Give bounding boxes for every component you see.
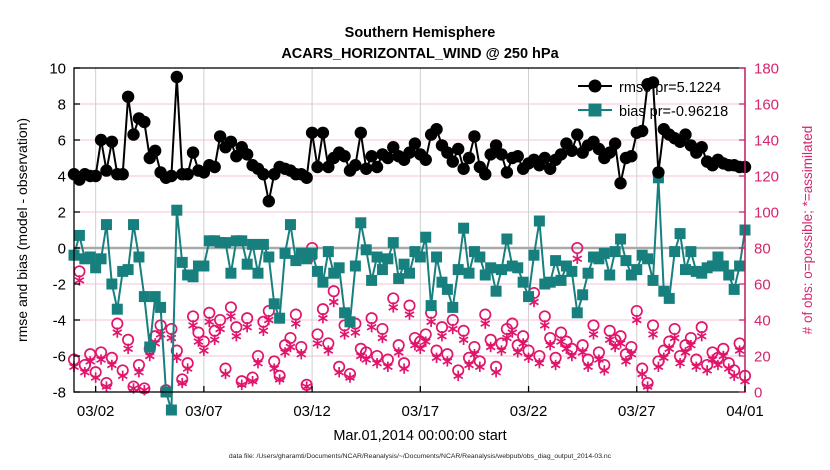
right-tick-label: 120 [754,169,779,186]
right-tick-label: 40 [754,313,771,330]
rmse-data-point [95,134,107,146]
bias-data-point [566,266,577,277]
plot-title-line1: Southern Hemisphere [345,25,496,41]
rmse-data-point [106,136,118,148]
rmse-data-point [181,168,193,180]
bias-data-point [350,261,361,272]
bias-data-point [242,259,253,270]
bias-data-point [247,239,258,250]
bias-data-point [431,252,442,263]
left-tick-label: 6 [58,133,66,150]
bias-data-point [280,248,291,259]
right-axis-label: # of obs: o=possible; *=assimilated [800,126,815,335]
rmse-data-point [512,150,524,162]
x-tick-label: 03/07 [185,403,223,420]
bias-data-point [556,275,567,286]
bias-data-point [123,264,134,275]
left-tick-label: 8 [58,97,66,114]
bias-data-point [528,250,539,261]
rmse-data-point [566,145,578,157]
bias-data-point [723,270,734,281]
rmse-data-point [495,148,507,160]
bias-data-point [144,342,155,353]
rmse-data-point [539,152,551,164]
bias-data-point [518,277,529,288]
bias-data-point [377,264,388,275]
rmse-data-point [452,143,464,155]
left-tick-label: 10 [49,61,66,78]
bias-data-point [577,289,588,300]
rmse-data-point [263,195,275,207]
bias-data-point [675,228,686,239]
bias-data-point [664,293,675,304]
rmse-data-point [241,148,253,160]
bias-data-point [344,316,355,327]
rmse-data-point [501,166,513,178]
bias-data-point [258,239,269,250]
bias-data-point [177,257,188,268]
bias-data-point [307,248,318,259]
rmse-data-point [696,141,708,153]
bias-data-point [128,219,139,230]
bias-data-point [139,291,150,302]
bias-data-point [442,284,453,295]
rmse-data-point [187,146,199,158]
bias-data-point [491,286,502,297]
x-tick-label: 03/02 [77,403,115,420]
rmse-data-point [311,161,323,173]
figure-background [0,0,830,470]
bias-data-point [604,270,615,281]
bias-data-point [464,268,475,279]
bias-data-point [669,246,680,257]
bias-data-point [572,307,583,318]
rmse-data-point [171,71,183,83]
bias-data-point [269,298,280,309]
plot-title-line2: ACARS_HORIZONTAL_WIND @ 250 hPa [281,46,559,62]
rmse-data-point [149,145,161,157]
rmse-data-point [306,127,318,139]
x-tick-label: 04/01 [726,403,764,420]
bias-data-point [323,246,334,257]
rmse-data-point [555,148,567,160]
rmse-data-point [371,161,383,173]
rmse-data-point [349,159,361,171]
rmse-data-point [317,127,329,139]
bias-data-point [74,230,85,241]
rmse-data-point [89,170,101,182]
bias-data-point [734,261,745,272]
bias-data-point [523,291,534,302]
left-tick-label: 2 [58,205,66,222]
bias-data-point [155,302,166,313]
x-tick-label: 03/17 [402,403,440,420]
rmse-data-point [365,150,377,162]
rmse-data-point [652,166,664,178]
rmse-data-point [420,154,432,166]
bias-data-point [274,313,285,324]
bias-data-point [512,262,523,273]
rmse-data-point [355,127,367,139]
rmse-data-point [679,128,691,140]
data-file-footer: data file: /Users/gharamti/Documents/NCA… [229,453,612,460]
bias-data-point [96,253,107,264]
legend-rmse-marker [589,80,602,93]
rmse-data-point [447,155,459,167]
rmse-data-point [360,163,372,175]
bias-data-point [188,271,199,282]
bias-data-point [485,262,496,273]
rmse-data-point [614,177,626,189]
rmse-data-point [382,152,394,164]
bias-data-point [263,252,274,263]
rmse-data-point [122,91,134,103]
rmse-data-point [479,168,491,180]
bias-data-point [447,302,458,313]
bias-data-point [361,244,372,255]
rmse-data-point [257,168,269,180]
left-axis-label: rmse and bias (model - observation) [14,118,30,342]
bias-data-point [404,268,415,279]
right-tick-label: 180 [754,61,779,78]
rmse-data-point [300,172,312,184]
right-tick-label: 80 [754,241,771,258]
rmse-data-point [468,130,480,142]
rmse-data-point [117,168,129,180]
bias-data-point [615,234,626,245]
bias-data-point [334,262,345,273]
observation-diagnostic-plot: Southern Hemisphere ACARS_HORIZONTAL_WIN… [0,0,830,470]
bias-data-point [382,253,393,264]
bias-data-point [620,255,631,266]
bias-data-point [550,255,561,266]
x-axis-label: Mar.01,2014 00:00:00 start [333,428,506,444]
right-tick-label: 0 [754,385,762,402]
bias-data-point [85,252,96,263]
bias-data-point [317,277,328,288]
bias-data-point [496,264,507,275]
left-tick-label: 4 [58,169,66,186]
bias-data-point [312,266,323,277]
rmse-data-point [430,123,442,135]
bias-data-point [648,275,659,286]
bias-data-point [599,248,610,259]
left-tick-label: -4 [53,313,66,330]
rmse-data-point [409,137,421,149]
bias-data-point [631,264,642,275]
bias-data-point [150,291,161,302]
rmse-data-point [165,170,177,182]
bias-data-point [220,237,231,248]
rmse-data-point [636,125,648,137]
legend-bias-label: bias pr=-0.96218 [619,104,728,120]
bias-data-point [501,234,512,245]
bias-data-point [236,235,247,246]
legend-bias-marker [589,104,602,117]
x-tick-label: 03/27 [618,403,656,420]
rmse-data-point [100,164,112,176]
right-tick-label: 160 [754,97,779,114]
bias-data-point [420,232,431,243]
bias-data-point [415,252,426,263]
bias-data-point [534,216,545,227]
left-tick-label: -6 [53,349,66,366]
bias-data-point [133,252,144,263]
rmse-data-point [609,137,621,149]
bias-data-point [393,273,404,284]
bias-data-point [252,268,263,279]
rmse-data-point [571,128,583,140]
bias-data-point [106,279,117,290]
rmse-data-point [214,130,226,142]
bias-data-point [355,217,366,228]
bias-data-point [166,405,177,416]
right-tick-label: 140 [754,133,779,150]
bias-data-point [112,304,123,315]
right-tick-label: 60 [754,277,771,294]
left-tick-label: 0 [58,241,66,258]
bias-data-point [680,264,691,275]
x-tick-label: 03/12 [293,403,331,420]
left-tick-label: -2 [53,277,66,294]
legend-rmse-label: rmse pr=5.1224 [619,80,721,96]
left-tick-label: -8 [53,385,66,402]
bias-data-point [372,252,383,263]
rmse-data-point [225,136,237,148]
bias-data-point [610,246,621,257]
rmse-data-point [457,163,469,175]
rmse-data-point [127,128,139,140]
bias-data-point [225,268,236,279]
rmse-data-point [208,161,220,173]
rmse-data-point [463,152,475,164]
bias-data-point [198,261,209,272]
x-tick-label: 03/22 [510,403,548,420]
bias-data-point [388,237,399,248]
bias-data-point [453,264,464,275]
rmse-data-point [138,116,150,128]
bias-data-point [545,277,556,288]
bias-data-point [685,246,696,257]
bias-data-point [729,284,740,295]
bias-data-point [171,205,182,216]
bias-data-point [583,268,594,279]
bias-data-point [101,219,112,230]
rmse-data-point [625,150,637,162]
bias-data-point [642,253,653,264]
bias-data-point [285,219,296,230]
bias-data-point [474,252,485,263]
bias-data-point [366,275,377,286]
rmse-data-point [338,150,350,162]
bias-data-point [426,300,437,311]
right-tick-label: 20 [754,349,771,366]
right-tick-label: 100 [754,205,779,222]
bias-data-point [458,223,469,234]
